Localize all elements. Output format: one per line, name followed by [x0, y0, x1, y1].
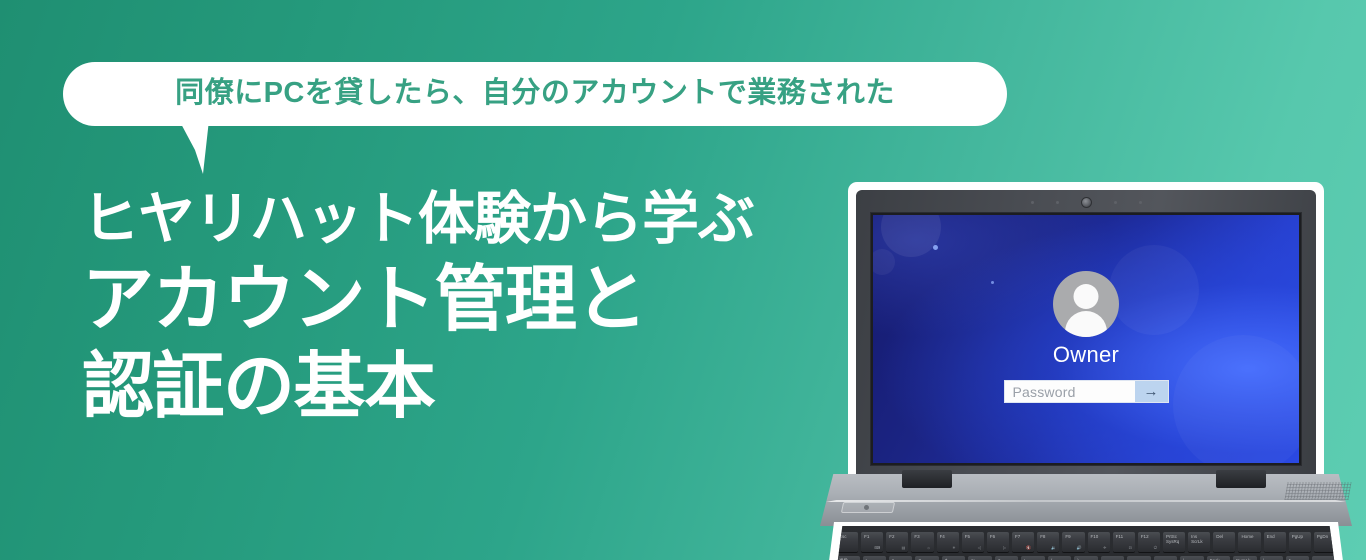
password-input[interactable]: Password [1005, 381, 1135, 402]
keyboard-key-label: F10 [1091, 534, 1099, 539]
laptop-bezel: Owner Password → [870, 212, 1302, 466]
keyboard-key[interactable]: F6▷ [987, 532, 1009, 552]
keyboard-key[interactable]: NumLk [1233, 556, 1256, 560]
login-block: Owner Password → [1004, 271, 1169, 403]
screen-bokeh [873, 249, 895, 275]
laptop-hinge-left [902, 470, 952, 488]
keyboard-key-label: F7 [1015, 534, 1020, 539]
password-row: Password → [1004, 380, 1169, 403]
keyboard-row-function: EscF1⌨F2▤F3☼F4☀F5◁F6▷F7🔇F8🔉F9🔊F10✈F11⊡F1… [836, 532, 1336, 552]
banner-stage: 同僚にPCを貸したら、自分のアカウントで業務された ヒヤリハット体験から学ぶ ア… [0, 0, 1366, 560]
page-title: アカウント管理と 認証の基本 [82, 257, 842, 431]
power-led-icon [864, 505, 869, 510]
keyboard-key[interactable]: F4☀ [937, 532, 959, 552]
keyboard-key-label: F2 [889, 534, 894, 539]
keyboard-key-sublabel: ▷ [1003, 546, 1006, 550]
callout-text: 同僚にPCを貸したら、自分のアカウントで業務された [175, 79, 895, 110]
keyboard-key-sublabel: ◁ [978, 546, 981, 550]
avatar-head [1074, 284, 1099, 309]
keyboard-key[interactable]: ! 1ぬ [863, 556, 886, 560]
microphone-dot-icon [1031, 201, 1034, 204]
keyboard-key[interactable]: F11⊡ [1113, 532, 1135, 552]
login-screen: Owner Password → [873, 215, 1299, 463]
keyboard-key-sublabel: 🔇 [1026, 546, 1031, 550]
keyboard-key[interactable]: / [1260, 556, 1283, 560]
keyboard-key[interactable]: F2▤ [886, 532, 908, 552]
keyboard-key-label: F4 [940, 534, 945, 539]
keyboard-key[interactable]: F12⏻ [1138, 532, 1160, 552]
keyboard-key[interactable]: % 5え [968, 556, 991, 560]
keyboard-key[interactable]: " 2ふ [889, 556, 912, 560]
keyboard-key-label: F9 [1065, 534, 1070, 539]
login-user-name: Owner [1053, 344, 1119, 366]
keyboard-key-sublabel: ▤ [902, 546, 906, 550]
keyboard-key[interactable]: $ 4う [942, 556, 965, 560]
keyboard-key[interactable]: ' 7や [1021, 556, 1044, 560]
keyboard-key-label: End [1267, 534, 1275, 539]
keyboard-key-sublabel: ✈ [1103, 546, 1106, 550]
avatar-body [1065, 311, 1107, 337]
keyboard-key-label: F5 [965, 534, 970, 539]
keyboard-key[interactable]: = -ほ [1127, 556, 1150, 560]
laptop-hinge-right [1216, 470, 1266, 488]
keyboard-key-label: F6 [990, 534, 995, 539]
keyboard-key-label: PrtSc SysRq [1166, 534, 1179, 544]
keyboard-key[interactable]: Back Space [1207, 556, 1230, 560]
keyboard-key[interactable]: F1⌨ [861, 532, 883, 552]
keyboard-key[interactable]: PgUp [1289, 532, 1311, 552]
keyboard-key[interactable]: 半角 全角 [836, 556, 859, 560]
webcam-row [856, 196, 1316, 208]
keyboard-key-label: F3 [914, 534, 919, 539]
bubble-tail-icon [175, 120, 221, 176]
password-submit-button[interactable]: → [1135, 381, 1168, 402]
callout-bubble: 同僚にPCを貸したら、自分のアカウントで業務された [63, 62, 1007, 126]
keyboard-key-sublabel: ☀ [952, 546, 956, 550]
keyboard-key[interactable]: ~ ^へ [1154, 556, 1177, 560]
microphone-dot-icon [1056, 201, 1059, 204]
keyboard-key[interactable]: - [1312, 556, 1335, 560]
keyboard-key[interactable]: | ¥ [1180, 556, 1203, 560]
page-title-line-1: アカウント管理と [82, 257, 842, 344]
laptop-lid: Owner Password → [856, 190, 1316, 478]
keyboard-key[interactable]: Del [1213, 532, 1235, 552]
heading-group: ヒヤリハット体験から学ぶ アカウント管理と 認証の基本 [82, 186, 842, 431]
keyboard-key-label: F12 [1141, 534, 1149, 539]
keyboard-key[interactable]: F5◁ [962, 532, 984, 552]
keyboard-key[interactable]: ) 9よ [1074, 556, 1097, 560]
heading-subtitle: ヒヤリハット体験から学ぶ [82, 186, 842, 252]
keyboard-key-label: PgUp [1292, 534, 1303, 539]
keyboard-key[interactable]: F7🔇 [1012, 532, 1034, 552]
webcam-icon [1081, 197, 1092, 208]
laptop-illustration: Owner Password → EscF1⌨F2▤F3☼F4☀F5◁F6▷F7… [806, 182, 1366, 560]
screen-bokeh [991, 281, 994, 284]
screen-bokeh [1173, 335, 1299, 463]
laptop-keyboard: EscF1⌨F2▤F3☼F4☀F5◁F6▷F7🔇F8🔉F9🔊F10✈F11⊡F1… [814, 526, 1358, 560]
keyboard-key-sublabel: 🔊 [1077, 546, 1082, 550]
keyboard-key-label: F1 [864, 534, 869, 539]
keyboard-key-sublabel: 🔉 [1051, 546, 1056, 550]
keyboard-key[interactable]: ( 8ゆ [1048, 556, 1071, 560]
keyboard-key-label: Ins ScrLk [1191, 534, 1203, 544]
screen-bokeh [933, 245, 938, 250]
callout-bubble-body: 同僚にPCを貸したら、自分のアカウントで業務された [63, 62, 1007, 126]
keyboard-key[interactable]: * [1286, 556, 1309, 560]
page-title-line-2: 認証の基本 [82, 344, 842, 431]
person-avatar-icon [1053, 271, 1119, 337]
microphone-dot-icon [1114, 201, 1117, 204]
keyboard-key-sublabel: ⊡ [1128, 546, 1131, 550]
keyboard-key[interactable]: F8🔉 [1037, 532, 1059, 552]
keyboard-key[interactable]: & 6お [995, 556, 1018, 560]
keyboard-key[interactable]: F9🔊 [1062, 532, 1084, 552]
keyboard-key[interactable]: Home [1238, 532, 1260, 552]
keyboard-key-label: F11 [1116, 534, 1123, 539]
keyboard-key-label: Home [1241, 534, 1253, 539]
keyboard-key-label: F8 [1040, 534, 1045, 539]
keyboard-key-label: Del [1216, 534, 1223, 539]
keyboard-key[interactable]: F10✈ [1088, 532, 1110, 552]
keyboard-key-label: PgDn [1317, 534, 1328, 539]
screen-bokeh [881, 215, 941, 257]
keyboard-key[interactable]: F3☼ [911, 532, 933, 552]
keyboard-key[interactable]: Ins ScrLk [1188, 532, 1210, 552]
keyboard-key-sublabel: ⌨ [874, 546, 880, 550]
keyboard-key[interactable]: PrtSc SysRq [1163, 532, 1185, 552]
keyboard-row-number: 半角 全角! 1ぬ" 2ふ# 3あ$ 4う% 5え& 6お' 7や( 8ゆ) 9… [836, 556, 1336, 560]
keyboard-key[interactable]: 0わ [1101, 556, 1124, 560]
keyboard-key[interactable]: End [1264, 532, 1286, 552]
keyboard-key[interactable]: # 3あ [915, 556, 938, 560]
microphone-dot-icon [1139, 201, 1142, 204]
keyboard-key-sublabel: ⏻ [1154, 546, 1157, 550]
laptop-deck-seam [826, 500, 1346, 502]
keyboard-key-sublabel: ☼ [927, 546, 931, 550]
speaker-grille [1284, 482, 1351, 500]
